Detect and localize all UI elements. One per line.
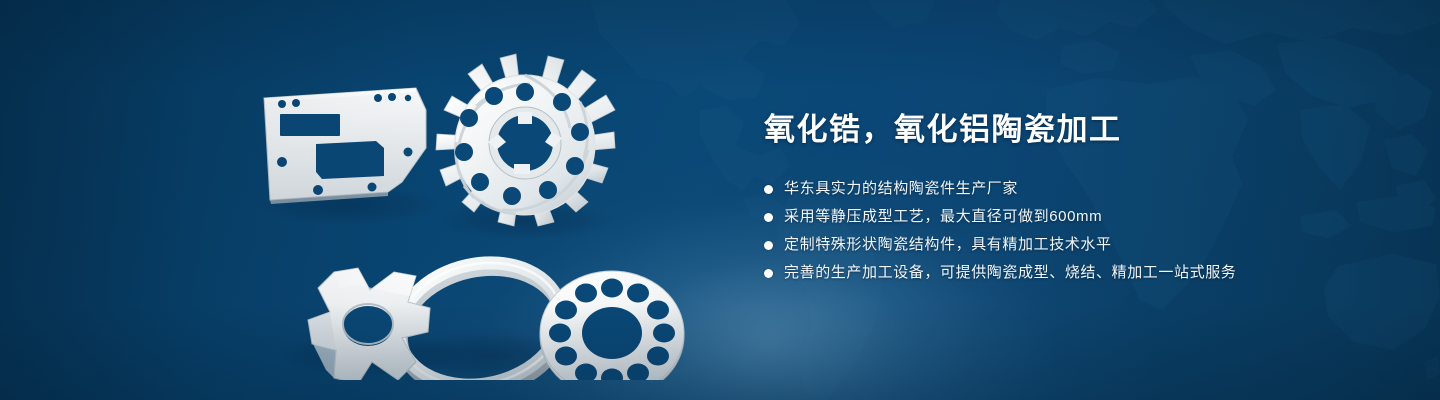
product-photo <box>230 40 710 380</box>
feature-text: 完善的生产加工设备，可提供陶瓷成型、烧结、精加工一站式服务 <box>784 262 1236 284</box>
feature-text: 定制特殊形状陶瓷结构件，具有精加工技术水平 <box>784 234 1112 256</box>
feature-list: 华东具实力的结构陶瓷件生产厂家 采用等静压成型工艺，最大直径可做到600mm 定… <box>764 178 1384 284</box>
list-item: 定制特殊形状陶瓷结构件，具有精加工技术水平 <box>764 234 1384 256</box>
bullet-dot-icon <box>764 213 773 222</box>
banner-headline: 氧化锆，氧化铝陶瓷加工 <box>764 110 1384 150</box>
ceramic-plate-part <box>264 88 426 204</box>
feature-text: 采用等静压成型工艺，最大直径可做到600mm <box>784 206 1102 228</box>
bullet-dot-icon <box>764 185 773 194</box>
ceramic-impeller-disc-part <box>436 54 615 226</box>
list-item: 采用等静压成型工艺，最大直径可做到600mm <box>764 206 1384 228</box>
ceramic-cross-vane-part <box>308 268 430 380</box>
list-item: 完善的生产加工设备，可提供陶瓷成型、烧结、精加工一站式服务 <box>764 262 1384 284</box>
ceramic-perforated-disc-part <box>540 271 684 380</box>
bullet-dot-icon <box>764 269 773 278</box>
list-item: 华东具实力的结构陶瓷件生产厂家 <box>764 178 1384 200</box>
bullet-dot-icon <box>764 241 773 250</box>
feature-text: 华东具实力的结构陶瓷件生产厂家 <box>784 178 1018 200</box>
banner-copy: 氧化锆，氧化铝陶瓷加工 华东具实力的结构陶瓷件生产厂家 采用等静压成型工艺，最大… <box>764 110 1384 290</box>
promo-banner: 氧化锆，氧化铝陶瓷加工 华东具实力的结构陶瓷件生产厂家 采用等静压成型工艺，最大… <box>0 0 1440 400</box>
